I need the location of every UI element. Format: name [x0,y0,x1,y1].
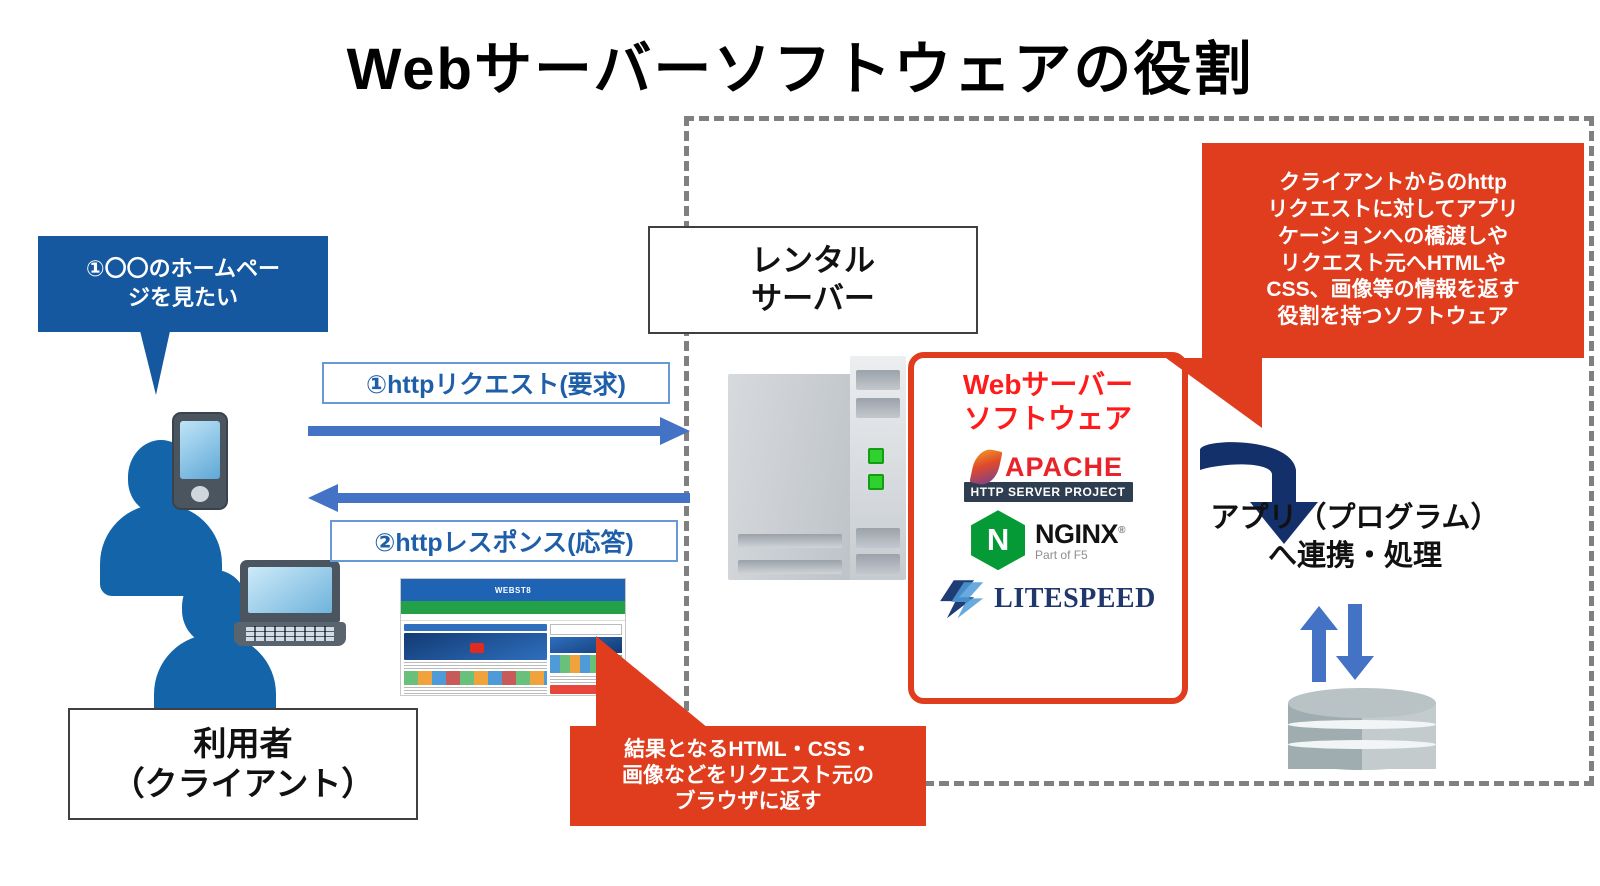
database-ring [1288,740,1436,749]
software-title-line-2: ソフトウェア [963,402,1133,436]
right-callout-tail [1166,358,1262,428]
bottom-callout-line-2: 画像などをリクエスト元の [622,763,874,789]
client-line-1: 利用者 [112,724,375,764]
page-title: Webサーバーソフトウェアの役割 [0,22,1600,106]
rental-server-box: レンタル サーバー [648,226,978,334]
response-content-callout: 結果となるHTML・CSS・ 画像などをリクエスト元の ブラウザに返す [570,726,926,826]
thumbnail-body [401,621,625,696]
arrow-shaft [308,426,660,436]
phone-screen [180,421,220,479]
thumbnail-subnav [401,614,625,621]
server-led-indicator [868,474,884,490]
database-icon [1288,688,1436,784]
litespeed-wordmark: LITESPEED [994,583,1156,615]
callout-line-4: リクエスト元へHTMLや [1266,251,1519,278]
nginx-subtitle: Part of F5 [1035,548,1125,562]
client-label-box: 利用者 （クライアント） [68,708,418,820]
litespeed-bolt-icon [940,578,986,620]
app-label-line-1: アプリ（プログラム） [1190,500,1520,538]
client-line-2: （クライアント） [112,764,375,804]
laptop-lid [240,560,340,622]
bubble-line-1: ①〇〇のホームペー [86,255,280,284]
thumbnail-search-box [550,624,622,635]
server-tower-icon [728,356,908,596]
laptop-screen [248,567,332,613]
software-title-line-1: Webサーバー [963,368,1133,402]
thumbnail-nav [401,601,625,614]
bottom-callout-line-1: 結果となるHTML・CSS・ [622,737,874,763]
bottom-callout-tail [596,636,708,728]
apache-subtitle: HTTP SERVER PROJECT [964,482,1133,502]
database-exchange-arrows [1290,604,1380,682]
client-speech-bubble: ①〇〇のホームペー ジを見たい [38,236,328,332]
thumbnail-site-name: WEBST8 [401,579,625,601]
callout-line-3: ケーションへの橋渡しや [1266,224,1519,251]
nginx-text-block: NGINX® Part of F5 [1035,519,1125,562]
server-vent [738,560,842,574]
callout-line-2: リクエストに対してアプリ [1266,197,1519,224]
webserver-software-box: Webサーバー ソフトウェア APACHE HTTP SERVER PROJEC… [908,352,1188,704]
webserver-role-callout: クライアントからのhttp リクエストに対してアプリ ケーションへの橋渡しや リ… [1202,143,1584,358]
phone-button [191,486,209,502]
webserver-software-title: Webサーバー ソフトウェア [963,368,1133,435]
server-led-indicator [868,448,884,464]
laptop-icon [234,560,346,652]
thumbnail-text-lines [404,687,547,694]
rental-server-line-1: レンタル [751,242,875,280]
arrow-head [660,417,690,445]
litespeed-logo: LITESPEED [940,578,1156,620]
thumbnail-banner [404,624,547,631]
server-vent [738,534,842,548]
nginx-hexagon-icon: N [971,510,1025,570]
apache-logo-top: APACHE [973,449,1123,485]
server-front-panel [728,374,852,580]
arrow-shaft [338,493,690,503]
apache-logo: APACHE HTTP SERVER PROJECT [964,449,1133,502]
thumbnail-text-lines [404,662,547,669]
thumbnail-thumb-grid [404,671,547,685]
arrow-head [308,484,338,512]
app-label-line-2: へ連携・処理 [1190,538,1520,576]
http-response-label: ②httpレスポンス(応答) [330,520,678,562]
http-request-arrow [308,423,690,439]
bubble-line-2: ジを見たい [86,284,280,313]
speech-bubble-tail [140,331,186,395]
website-screenshot-thumbnail: WEBST8 [400,578,626,696]
server-drive-slot [856,398,900,418]
bottom-callout-line-3: ブラウザに返す [622,789,874,815]
thumbnail-hero [404,633,547,660]
application-label: アプリ（プログラム） へ連携・処理 [1190,500,1520,575]
database-top [1288,688,1436,718]
diagram-canvas: Webサーバーソフトウェアの役割 ①〇〇のホームペー ジを見たい WEBST8 [0,0,1600,886]
nginx-logo: N NGINX® Part of F5 [971,510,1125,570]
thumbnail-main-column [404,624,547,694]
apache-wordmark: APACHE [1005,452,1123,483]
database-ring [1288,720,1436,729]
http-request-label: ①httpリクエスト(要求) [322,362,670,404]
server-drive-slot [856,528,900,548]
http-response-arrow [308,490,690,506]
laptop-keyboard [246,626,334,641]
smartphone-icon [172,412,228,510]
callout-line-1: クライアントからのhttp [1266,170,1519,197]
callout-line-5: CSS、画像等の情報を返す [1266,277,1519,304]
server-drive-slot [856,370,900,390]
server-drive-slot [856,554,900,574]
nginx-wordmark: NGINX® [1035,519,1125,550]
rental-server-line-2: サーバー [751,280,875,318]
callout-line-6: 役割を持つソフトウェア [1266,304,1519,331]
